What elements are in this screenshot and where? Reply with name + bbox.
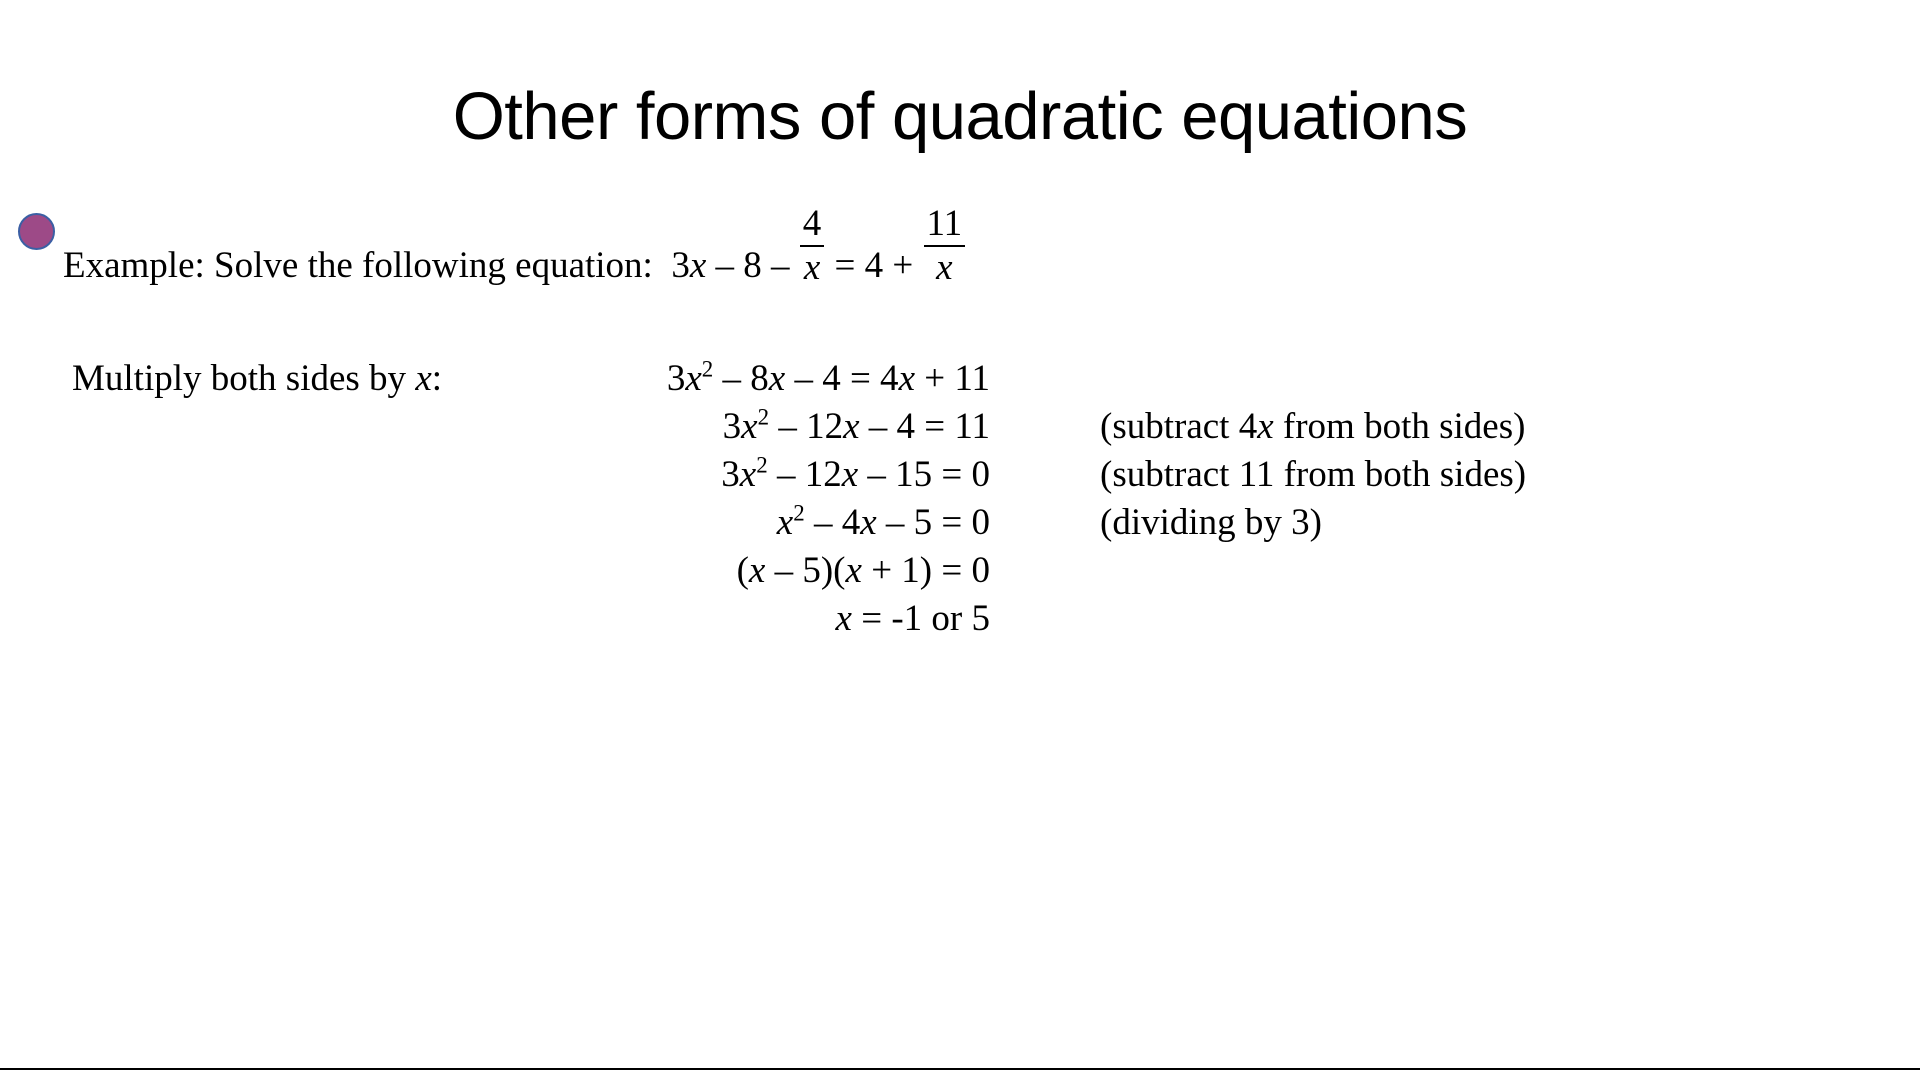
fraction-numerator: 11: [924, 205, 966, 247]
solution-row: 3x2 – 12x – 15 = 0 (subtract 11 from bot…: [0, 451, 1920, 499]
solution-note: (dividing by 3): [1100, 499, 1322, 547]
fraction-4-over-x: 4x: [800, 205, 825, 288]
fraction-denominator: x: [924, 247, 966, 288]
solution-equation: 3x2 – 8x – 4 = 4x + 11: [570, 355, 990, 403]
solution-row: 3x2 – 12x – 4 = 11 (subtract 4x from bot…: [0, 403, 1920, 451]
solution-equation: (x – 5)(x + 1) = 0: [570, 547, 990, 595]
solution-row: x2 – 4x – 5 = 0 (dividing by 3): [0, 499, 1920, 547]
solution-equation: x2 – 4x – 5 = 0: [570, 499, 990, 547]
solution-note: (subtract 4x from both sides): [1100, 403, 1525, 451]
solution-block: Multiply both sides by x: 3x2 – 8x – 4 =…: [0, 355, 1920, 643]
solution-equation: 3x2 – 12x – 4 = 11: [570, 403, 990, 451]
example-equation: 3x – 8 – 4x = 4 + 11x: [671, 245, 966, 286]
fraction-numerator: 4: [800, 205, 825, 247]
solution-lead-in: Multiply both sides by x:: [72, 355, 442, 403]
solution-equation: 3x2 – 12x – 15 = 0: [570, 451, 990, 499]
slide-canvas: Other forms of quadratic equations Examp…: [0, 0, 1920, 1080]
solution-equation: x = -1 or 5: [570, 595, 990, 643]
solution-row: (x – 5)(x + 1) = 0: [0, 547, 1920, 595]
solution-row: Multiply both sides by x: 3x2 – 8x – 4 =…: [0, 355, 1920, 403]
example-line: Example: Solve the following equation: 3…: [63, 205, 966, 289]
fraction-11-over-x: 11x: [924, 205, 966, 288]
fraction-denominator: x: [800, 247, 825, 288]
example-label: Example: Solve the following equation:: [63, 245, 653, 286]
solution-row: x = -1 or 5: [0, 595, 1920, 643]
solution-note: (subtract 11 from both sides): [1100, 451, 1526, 499]
example-bullet-row: Example: Solve the following equation: 3…: [18, 205, 1418, 305]
bottom-divider: [0, 1068, 1920, 1070]
page-title: Other forms of quadratic equations: [0, 78, 1920, 156]
bullet-dot-icon: [18, 213, 55, 250]
